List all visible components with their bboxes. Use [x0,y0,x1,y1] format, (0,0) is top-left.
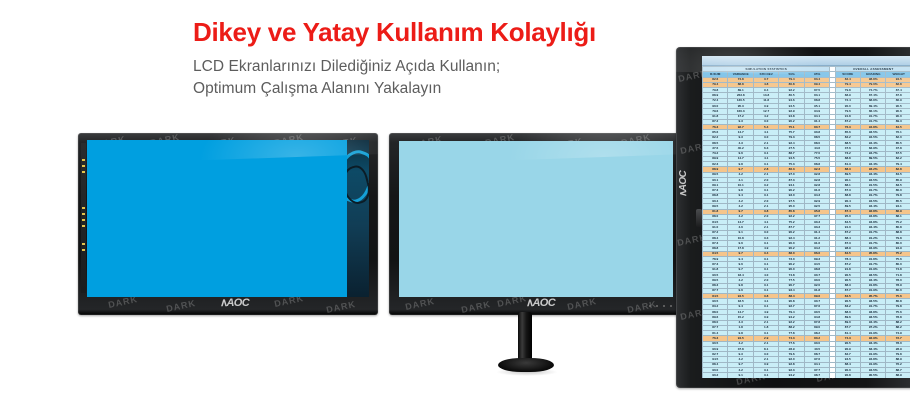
page-title: Dikey ve Yatay Kullanım Kolaylığı [193,18,713,48]
monitor-right-portrait: DARK DARK DARK DARK DARK DARK AOC SIMULA… [676,47,910,388]
table-cell[interactable]: 3.1 [753,373,778,378]
watermark-text: DARK [566,296,597,312]
watermark-text: DARK [165,298,196,314]
table-row[interactable]: 90.29.13.194.298.790.890.5%88.9 [703,373,910,378]
watermark-text: DARK [404,296,435,312]
watermark-text: DARK [460,299,491,315]
table-cell[interactable]: 90.2 [703,373,728,378]
table-cell[interactable]: 90.8 [835,373,860,378]
table-cell[interactable]: 88.9 [886,373,910,378]
watermark-text: DARK [325,299,356,315]
spreadsheet-table[interactable]: SIMULATION STATISTICS OVERALL ASSESSMENT… [702,66,910,378]
monitor-center-stand-shadow [496,368,558,376]
table-cell[interactable]: 94.2 [779,373,804,378]
monitor-center: DARK DARK DARK DARK DARK DARK DARK DARK … [389,133,684,315]
table-cell[interactable]: 98.7 [804,373,829,378]
aoc-logo: AOC [526,296,555,309]
spreadsheet-titlebar [702,56,910,66]
monitor-left-screen [87,140,369,297]
monitor-left-port-strip [81,143,86,293]
monitor-center-screen [399,141,673,297]
aoc-logo: AOC [220,296,249,309]
monitor-left-edge-artwork [347,140,369,297]
spreadsheet[interactable]: SIMULATION STATISTICS OVERALL ASSESSMENT… [702,56,910,378]
promo-banner: Dikey ve Yatay Kullanım Kolaylığı LCD Ek… [0,0,910,408]
headline-block: Dikey ve Yatay Kullanım Kolaylığı LCD Ek… [193,18,713,100]
table-cell[interactable]: 90.5% [860,373,885,378]
subtitle-line-1: LCD Ekranlarınızı Dilediğiniz Açıda Kull… [193,56,713,78]
aoc-logo: AOC [678,171,689,197]
monitor-right-bezel: DARK DARK DARK DARK DARK DARK AOC SIMULA… [676,47,910,388]
monitor-left-bezel: DARK DARK DARK DARK DARK DARK DARK DARK … [78,133,378,315]
spreadsheet-body: 82.674.83.779.483.482.498.8%94.579.488.8… [703,77,910,378]
subtitle-line-2: Optimum Çalışma Alanını Yakalayın [193,78,713,100]
table-cell[interactable]: 9.1 [728,373,753,378]
monitor-left: DARK DARK DARK DARK DARK DARK DARK DARK … [78,133,378,315]
monitor-center-bezel: DARK DARK DARK DARK DARK DARK DARK DARK … [389,133,684,315]
monitor-center-control-leds[interactable] [649,305,672,307]
monitor-right-screen: SIMULATION STATISTICS OVERALL ASSESSMENT… [702,56,910,378]
